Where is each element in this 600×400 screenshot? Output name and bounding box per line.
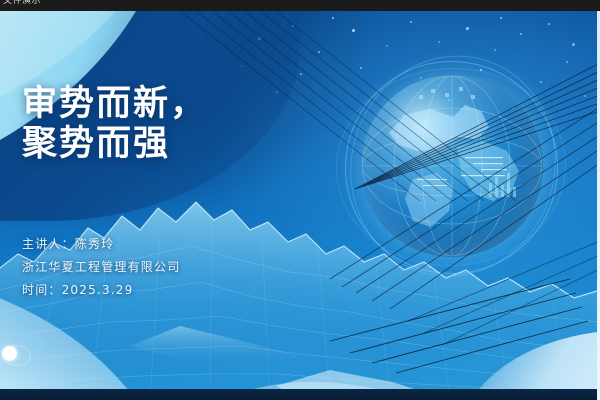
- slide-canvas: 审势而新， 聚势而强 主讲人：陈秀玲 浙江华夏工程管理有限公司 时间：2025.…: [0, 11, 600, 400]
- slide-title-line-1: 审势而新，: [22, 84, 207, 124]
- digital-globe-graphic: [345, 59, 560, 274]
- globe-continents-graphic: [361, 75, 543, 257]
- window-title-text: 文件演示: [3, 0, 41, 7]
- window-titlebar: 文件演示: [0, 0, 600, 11]
- slide-title-line-2: 聚势而强: [22, 124, 207, 164]
- slide-company: 浙江华夏工程管理有限公司: [22, 256, 180, 279]
- white-dot-marker: [2, 346, 17, 361]
- slide-date: 时间：2025.3.29: [22, 279, 180, 302]
- slide-speaker: 主讲人：陈秀玲: [22, 233, 180, 256]
- presentation-window: 文件演示: [0, 0, 600, 400]
- slide-bottom-strip: [0, 389, 600, 400]
- slide-title: 审势而新， 聚势而强: [22, 84, 207, 164]
- slide-meta-block: 主讲人：陈秀玲 浙江华夏工程管理有限公司 时间：2025.3.29: [22, 233, 180, 302]
